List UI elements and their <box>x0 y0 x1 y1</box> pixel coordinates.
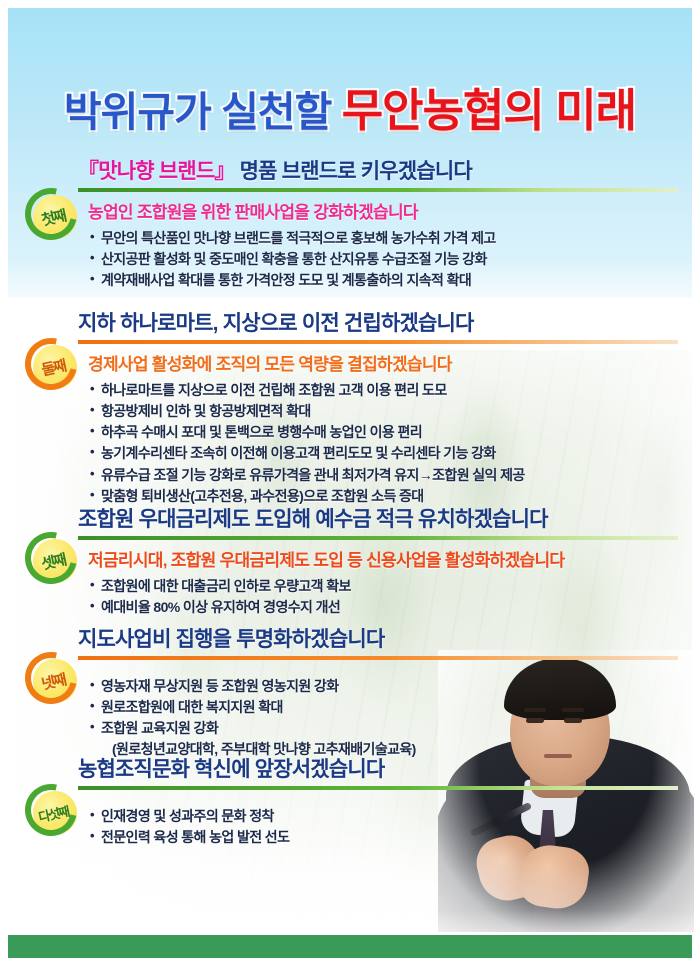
section-bullets-2: 하나로마트를 지상으로 이전 건립해 조합원 고객 이용 편리 도모 항공방제비… <box>78 380 678 508</box>
list-item: 전문인력 육성 통해 농업 발전 선도 <box>90 827 678 848</box>
list-item: 무안의 특산품인 맛나향 브랜드를 적극적으로 홍보해 농가수취 가격 제고 <box>90 228 678 249</box>
list-item: 계약재배사업 확대를 통한 가격안정 도모 및 계통출하의 지속적 확대 <box>90 270 678 291</box>
section-rule-1 <box>78 188 678 192</box>
title-blue-part: 박위규가 실천할 <box>64 89 331 135</box>
section-heading-1: 『맛나향 브랜드』 명품 브랜드로 키우겠습니다 <box>78 160 678 184</box>
ordinal-badge-5: 다섯째 <box>22 782 84 844</box>
campaign-poster: 박위규가 실천할 무안농협의 미래 첫째 『맛나향 브랜드』 명품 브랜드로 키… <box>0 0 700 968</box>
section-heading-2: 지하 하나로마트, 지상으로 이전 건립하겠습니다 <box>78 312 678 336</box>
list-item: 원로조합원에 대한 복지지원 확대 <box>90 697 678 718</box>
list-item: 조합원 교육지원 강화 <box>90 718 678 739</box>
list-item: 유류수급 조절 기능 강화로 유류가격을 관내 최저가격 유지→조합원 실익 제… <box>90 465 678 486</box>
list-item: 맞춤형 퇴비생산(고추전용, 과수전용)으로 조합원 소득 증대 <box>90 486 678 507</box>
section-heading-3: 조합원 우대금리제도 도입해 예수금 적극 유치하겠습니다 <box>78 508 678 532</box>
section-rule-5 <box>78 786 678 790</box>
section-heading-5: 농협조직문화 혁신에 앞장서겠습니다 <box>78 758 678 782</box>
list-item: 농기계수리센타 조속히 이전해 이용고객 편리도모 및 수리센타 기능 강화 <box>90 443 678 464</box>
pledge-section-3: 셋째 조합원 우대금리제도 도입해 예수금 적극 유치하겠습니다 저금리시대, … <box>0 508 700 618</box>
section-heading-1-brand: 『맛나향 브랜드』 <box>78 160 235 183</box>
section-rule-4 <box>78 656 678 660</box>
section-rule-2 <box>78 340 678 344</box>
section-bullets-4: 영농자재 무상지원 등 조합원 영농지원 강화 원로조합원에 대한 복지지원 확… <box>78 676 678 761</box>
list-item: 인재경영 및 성과주의 문화 정착 <box>90 806 678 827</box>
list-item: 영농자재 무상지원 등 조합원 영농지원 강화 <box>90 676 678 697</box>
ordinal-badge-3: 셋째 <box>22 530 84 592</box>
section-heading-4: 지도사업비 집행을 투명화하겠습니다 <box>78 628 678 652</box>
title-red-part: 무안농협의 미래 <box>342 85 636 136</box>
pledge-section-5: 다섯째 농협조직문화 혁신에 앞장서겠습니다 인재경영 및 성과주의 문화 정착… <box>0 758 700 848</box>
ordinal-badge-2: 둘째 <box>22 336 84 398</box>
section-bullets-1: 무안의 특산품인 맛나향 브랜드를 적극적으로 홍보해 농가수취 가격 제고 산… <box>78 228 678 292</box>
bottom-green-bar <box>8 935 692 958</box>
pledge-section-2: 둘째 지하 하나로마트, 지상으로 이전 건립하겠습니다 경제사업 활성화에 조… <box>0 312 700 507</box>
portrait-bottom-fade <box>438 910 694 932</box>
list-item: 예대비율 80% 이상 유지하여 경영수지 개선 <box>90 597 678 618</box>
poster-title: 박위규가 실천할 무안농협의 미래 <box>0 74 700 139</box>
ordinal-badge-4: 넷째 <box>22 650 84 712</box>
ordinal-badge-1: 첫째 <box>22 186 84 248</box>
section-subtitle-1: 농업인 조합원을 위한 판매사업을 강화하겠습니다 <box>88 198 678 223</box>
list-item: 하추곡 수매시 포대 및 톤백으로 병행수매 농업인 이용 편리 <box>90 422 678 443</box>
section-bullets-3: 조합원에 대한 대출금리 인하로 우량고객 확보 예대비율 80% 이상 유지하… <box>78 576 678 619</box>
section-rule-3 <box>78 536 678 540</box>
section-subtitle-3: 저금리시대, 조합원 우대금리제도 도입 등 신용사업을 활성화하겠습니다 <box>88 546 678 571</box>
pledge-section-4: 넷째 지도사업비 집행을 투명화하겠습니다 영농자재 무상지원 등 조합원 영농… <box>0 628 700 761</box>
list-item: 하나로마트를 지상으로 이전 건립해 조합원 고객 이용 편리 도모 <box>90 380 678 401</box>
list-item: 조합원에 대한 대출금리 인하로 우량고객 확보 <box>90 576 678 597</box>
section-subtitle-2: 경제사업 활성화에 조직의 모든 역량을 결집하겠습니다 <box>88 350 678 375</box>
section-bullets-5: 인재경영 및 성과주의 문화 정착 전문인력 육성 통해 농업 발전 선도 <box>78 806 678 849</box>
list-item: 항공방제비 인하 및 항공방제면적 확대 <box>90 401 678 422</box>
pledge-section-1: 첫째 『맛나향 브랜드』 명품 브랜드로 키우겠습니다 농업인 조합원을 위한 … <box>0 160 700 291</box>
section-heading-1-rest: 명품 브랜드로 키우겠습니다 <box>235 160 472 183</box>
list-item: 산지공판 활성화 및 중도매인 확충을 통한 산지유통 수급조절 기능 강화 <box>90 249 678 270</box>
